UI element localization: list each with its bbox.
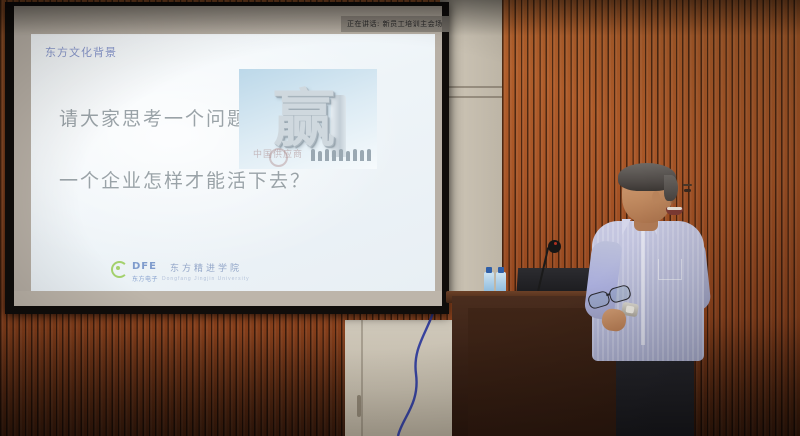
shirt-collar-left bbox=[622, 219, 631, 235]
logo-abbrev: DFE bbox=[132, 261, 157, 272]
screen-band-bottom bbox=[14, 291, 442, 306]
speaker-hair-side bbox=[664, 175, 678, 201]
slide-footer-logo: DFE 东方电子 东方精进学院 Dongfang Jingjin Univers… bbox=[111, 256, 250, 283]
speaker-ear bbox=[652, 191, 660, 203]
beige-wall-column bbox=[440, 0, 502, 300]
live-status-banner: 正在讲话: 新员工培训主会场 bbox=[341, 16, 449, 32]
leaf-circle-icon bbox=[111, 261, 128, 278]
slide-title: 东方文化背景 bbox=[45, 44, 117, 60]
slide-image-watermark: 中国供应商 bbox=[253, 147, 375, 165]
screen-surface: 东方文化背景 请大家思考一个问题： 一个企业怎样才能活下去？ 赢 中国供应商 bbox=[14, 6, 442, 306]
shirt-pocket bbox=[658, 259, 682, 280]
presentation-slide: 东方文化背景 请大家思考一个问题： 一个企业怎样才能活下去？ 赢 中国供应商 bbox=[31, 34, 435, 291]
speaker-eye bbox=[684, 189, 691, 192]
lecture-hall-scene: 东方文化背景 请大家思考一个问题： 一个企业怎样才能活下去？ 赢 中国供应商 bbox=[0, 0, 800, 436]
microphone-indicator-light bbox=[554, 242, 557, 245]
logo-brand-cn: 东方电子 bbox=[132, 274, 158, 283]
logo-school-en: Dongfang Jingjin University bbox=[162, 276, 250, 282]
speaker bbox=[586, 163, 716, 436]
slide-image: 赢 中国供应商 bbox=[239, 69, 377, 169]
projection-screen: 东方文化背景 请大家思考一个问题： 一个企业怎样才能活下去？ 赢 中国供应商 bbox=[5, 2, 449, 314]
slide-body-line-1: 请大家思考一个问题： bbox=[59, 104, 269, 131]
slide-body-line-2: 一个企业怎样才能活下去？ bbox=[59, 166, 311, 193]
shirt-placket bbox=[641, 225, 645, 345]
logo-school-cn: 东方精进学院 bbox=[170, 264, 242, 274]
speaker-trousers bbox=[616, 355, 694, 436]
